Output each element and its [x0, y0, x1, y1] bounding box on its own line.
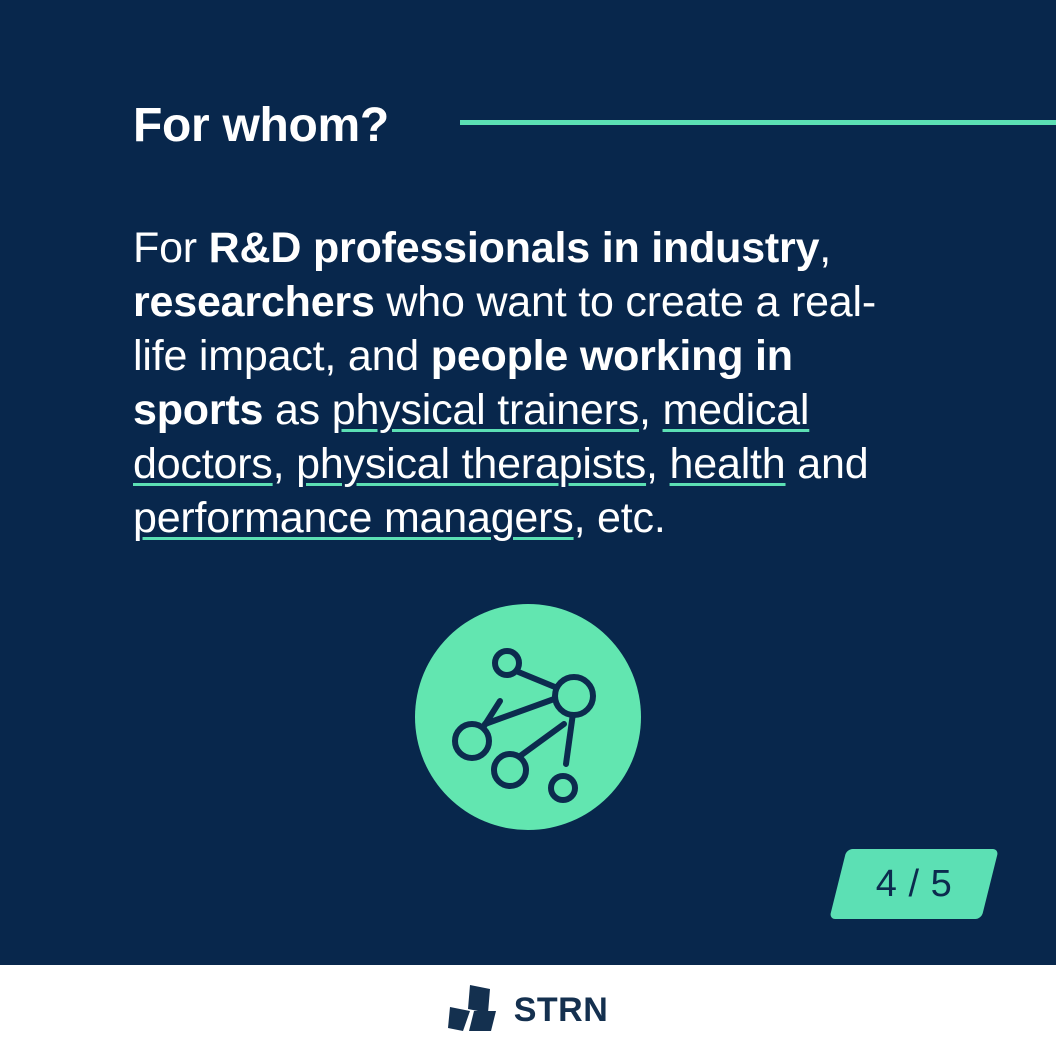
- network-node: [495, 651, 519, 675]
- network-node: [551, 776, 575, 800]
- body-text-run: and: [786, 440, 869, 488]
- body-text-underlined: physical therapists: [296, 440, 646, 488]
- network-node: [555, 677, 593, 715]
- page-counter-label: 4 / 5: [838, 849, 990, 919]
- footer-bar: STRN: [0, 965, 1056, 1056]
- body-text-run: , etc.: [574, 494, 666, 542]
- body-text-run: as: [263, 386, 332, 434]
- logo-shape-right: [469, 1011, 496, 1031]
- body-text-run: ,: [646, 440, 670, 488]
- body-text-run: ,: [273, 440, 297, 488]
- network-node: [494, 754, 526, 786]
- body-text-underlined: performance managers: [133, 494, 574, 542]
- body-text-run: ,: [819, 224, 831, 272]
- body-paragraph: For R&D professionals in industry, resea…: [133, 221, 923, 545]
- logo-shape-top: [468, 985, 490, 1013]
- body-text-run: ,: [639, 386, 663, 434]
- slide-card: For whom? For R&D professionals in indus…: [0, 0, 1056, 965]
- body-text-underlined: physical trainers: [332, 386, 639, 434]
- page-counter-badge: 4 / 5: [838, 849, 990, 919]
- icon-circle-background: [415, 604, 641, 830]
- title-accent-rule: [460, 120, 1056, 125]
- body-text-bold: researchers: [133, 278, 375, 326]
- body-text-underlined: health: [670, 440, 786, 488]
- brand-lockup: STRN: [448, 983, 609, 1038]
- slide-canvas: For whom? For R&D professionals in indus…: [0, 0, 1056, 1056]
- strn-logo-icon: [448, 983, 500, 1038]
- brand-name: STRN: [514, 991, 609, 1030]
- page-title: For whom?: [133, 92, 389, 160]
- network-node: [455, 724, 489, 758]
- body-text-run: For: [133, 224, 209, 272]
- body-text-bold: R&D professionals in industry: [209, 224, 820, 272]
- heading-row: For whom?: [133, 92, 1056, 160]
- logo-shape-left: [448, 1007, 470, 1031]
- network-nodes-icon: [415, 604, 641, 830]
